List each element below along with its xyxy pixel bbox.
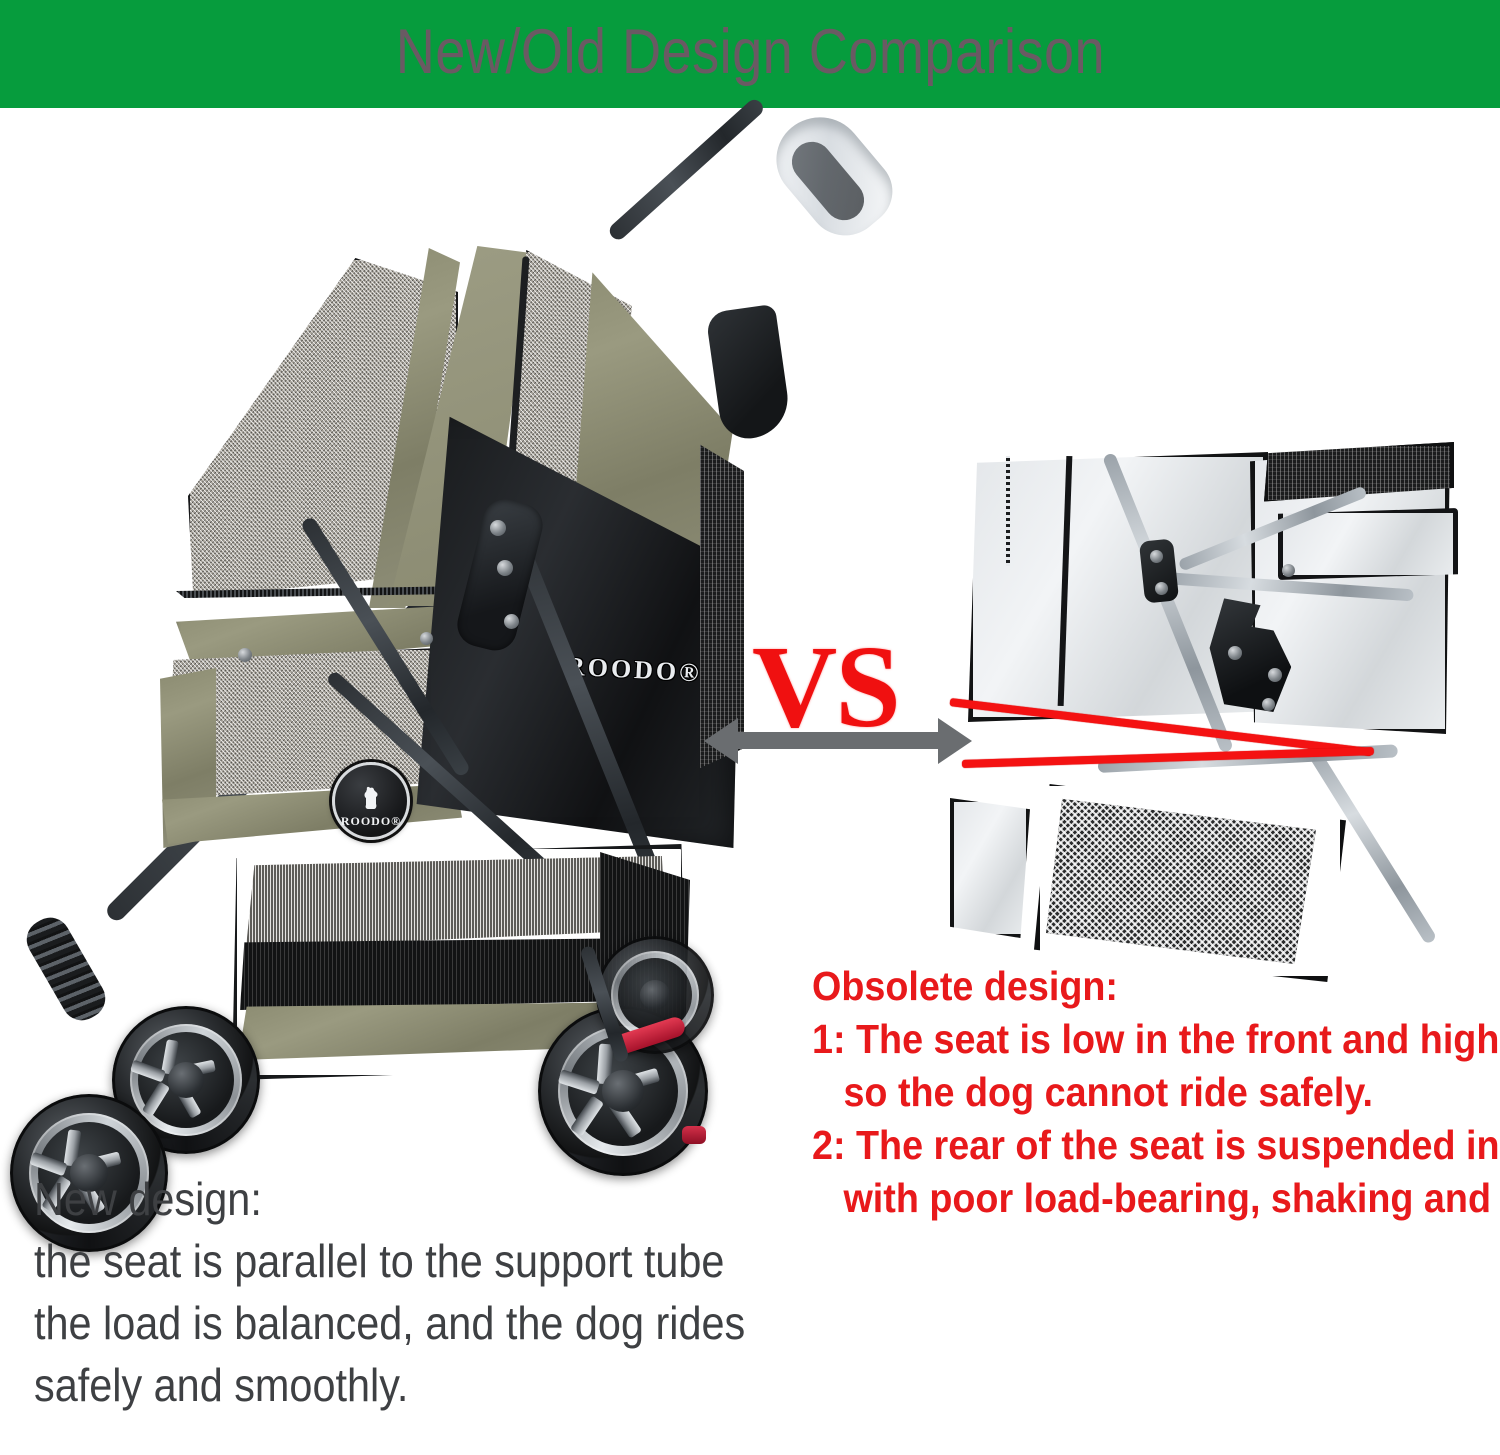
old-seam-zip-2 bbox=[1006, 456, 1010, 566]
old-under-basket-frame bbox=[1034, 780, 1346, 982]
canopy-pivot-rivet bbox=[238, 648, 252, 662]
handle-tube bbox=[606, 96, 766, 242]
new-callout-line-2: the load is balanced, and the dog rides bbox=[34, 1292, 772, 1354]
old-latch-rivet-1 bbox=[1228, 646, 1242, 660]
new-callout-line-3: safely and smoothly. bbox=[34, 1354, 772, 1416]
hinge-rivet-bottom bbox=[504, 614, 519, 629]
old-latch-rivet-3 bbox=[1262, 698, 1275, 711]
obsolete-callout-line-3: 2: The rear of the seat is suspended in … bbox=[812, 1119, 1438, 1172]
badge-wordmark: ROODO® bbox=[341, 814, 401, 829]
new-callout-heading: New design: bbox=[34, 1168, 772, 1230]
page-title: New/Old Design Comparison bbox=[395, 21, 1104, 84]
obsolete-callout-line-1: 1: The seat is low in the front and high… bbox=[812, 1013, 1438, 1066]
comparison-arrow-head-left bbox=[704, 718, 738, 764]
obsolete-design-product-photo bbox=[950, 430, 1490, 960]
comparison-arrow-head-right bbox=[938, 718, 972, 764]
obsolete-design-callout: Obsolete design: 1: The seat is low in t… bbox=[812, 960, 1492, 1225]
obsolete-callout-line-2: so the dog cannot ride safely. bbox=[812, 1066, 1438, 1119]
new-callout-line-1: the seat is parallel to the support tube bbox=[34, 1230, 772, 1292]
brake-lever-pin bbox=[682, 1126, 706, 1144]
old-hinge-rivet-2 bbox=[1155, 582, 1168, 595]
comparison-arrow-shaft bbox=[736, 732, 940, 749]
vs-comparison-group: VS bbox=[700, 600, 980, 790]
hinge-rivet-mid bbox=[497, 560, 513, 576]
obsolete-callout-heading: Obsolete design: bbox=[812, 960, 1438, 1013]
new-design-product-photo: ROODO® ROODO® bbox=[0, 108, 760, 1188]
vs-label: VS bbox=[752, 628, 899, 746]
dog-silhouette-icon bbox=[361, 786, 381, 812]
canopy-pivot-rivet-2 bbox=[420, 632, 433, 645]
header-band: New/Old Design Comparison bbox=[0, 0, 1500, 108]
obsolete-callout-line-4: with poor load-bearing, shaking and unsa… bbox=[812, 1172, 1438, 1225]
hinge-rivet-top bbox=[490, 520, 506, 536]
brand-badge: ROODO® bbox=[332, 762, 410, 840]
old-left-fabric-flap bbox=[950, 798, 1030, 938]
push-tube-spring bbox=[19, 910, 112, 1027]
old-latch-rivet-2 bbox=[1268, 668, 1282, 682]
new-design-callout: New design: the seat is parallel to the … bbox=[34, 1168, 854, 1416]
old-pocket-rivet bbox=[1282, 564, 1295, 577]
old-hinge-rivet-1 bbox=[1150, 550, 1163, 563]
comparison-infographic: New/Old Design Comparison bbox=[0, 0, 1500, 1455]
